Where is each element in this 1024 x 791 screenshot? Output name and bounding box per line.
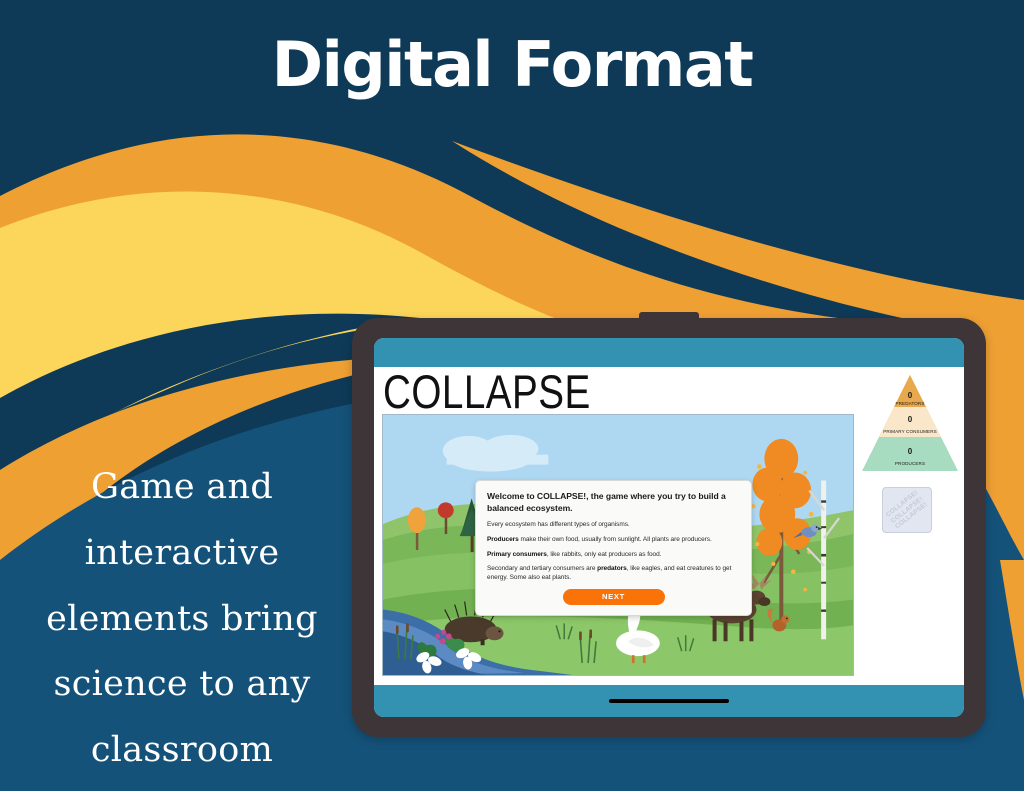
dialog-paragraph: Producers make their own food, usually f…: [487, 535, 740, 544]
app-bottom-bar: [374, 685, 964, 717]
next-button[interactable]: NEXT: [563, 589, 665, 605]
energy-pyramid: 0 PREDATORS 0 PRIMARY CONSUMERS 0 PRODUC…: [862, 375, 958, 475]
tablet-device: COLLAPSE: [352, 318, 986, 737]
card-deck-back[interactable]: COLLAPSE!COLLAPSE!COLLAPSE!: [882, 487, 932, 533]
dialog-paragraph: Every ecosystem has different types of o…: [487, 520, 740, 529]
dialog-heading: Welcome to COLLAPSE!, the game where you…: [487, 490, 740, 514]
tablet-screen: COLLAPSE: [374, 338, 964, 717]
app-content: COLLAPSE: [374, 367, 964, 685]
dialog-paragraph: Primary consumers, like rabbits, only ea…: [487, 550, 740, 559]
card-back-text: COLLAPSE!COLLAPSE!COLLAPSE!: [885, 489, 929, 531]
page-title: Digital Format: [0, 28, 1024, 101]
game-side-panel: 0 PREDATORS 0 PRIMARY CONSUMERS 0 PRODUC…: [862, 375, 958, 675]
caption-text: Game and interactive elements bring scie…: [8, 455, 356, 784]
game-logo: COLLAPSE: [383, 369, 591, 416]
app-top-bar: [374, 338, 964, 367]
intro-dialog: Welcome to COLLAPSE!, the game where you…: [475, 480, 752, 616]
pyramid-tier-predators: [894, 375, 926, 407]
dialog-paragraph: Secondary and tertiary consumers are pre…: [487, 564, 740, 582]
tablet-camera-notch: [639, 312, 699, 320]
slide-canvas: Digital Format Game and interactive elem…: [0, 0, 1024, 791]
ecosystem-scene: Welcome to COLLAPSE!, the game where you…: [382, 414, 854, 676]
home-indicator: [609, 699, 729, 703]
dialog-body: Every ecosystem has different types of o…: [487, 520, 740, 582]
